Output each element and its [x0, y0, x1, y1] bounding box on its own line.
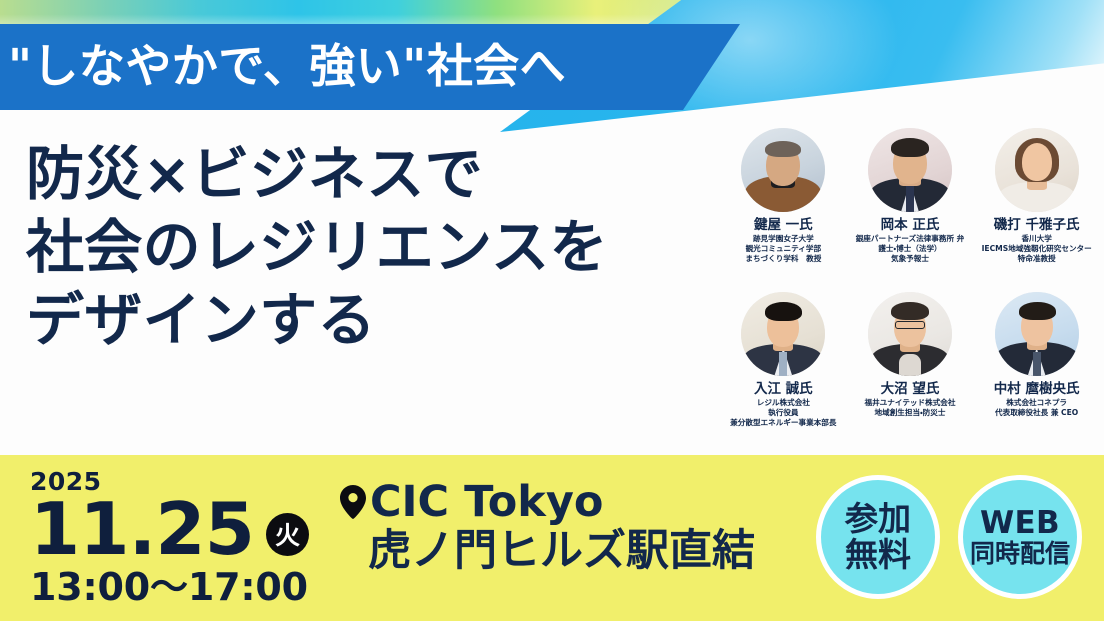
venue-access: 虎ノ門ヒルズ駅直結	[340, 527, 755, 575]
web-streaming-badge: WEB 同時配信	[958, 475, 1082, 599]
speaker-affiliation: 銀座パートナーズ法律事務所 弁 護士・博士（法学） 気象予報士	[856, 234, 965, 264]
badge-group: 参加 無料 WEB 同時配信	[816, 475, 1082, 599]
affiliation-line: 福井ユナイテッド株式会社	[865, 398, 956, 408]
web-streaming-line-2: 同時配信	[970, 540, 1070, 567]
affiliation-line: 観光コミュニティ学部	[745, 244, 821, 254]
speaker-name: 磯打 千雅子氏	[994, 218, 1080, 232]
portrait-onuma	[868, 292, 952, 376]
speaker-affiliation: 株式会社コネプラ 代表取締役社長 兼 CEO	[995, 398, 1078, 418]
event-venue-block: CIC Tokyo 虎ノ門ヒルズ駅直結	[340, 479, 755, 576]
speaker-card: 鍵屋 一氏 跡見学園女子大学 観光コミュニティ学部 まちづくり学科 教授	[722, 128, 845, 286]
speaker-affiliation: 香川大学 IECMS地域強靱化研究センター 特命准教授	[982, 234, 1092, 264]
affiliation-line: 跡見学園女子大学	[745, 234, 821, 244]
event-date-row: 11.25 火	[30, 496, 309, 562]
free-admission-line-2: 無料	[845, 537, 911, 573]
event-date-block: 2025 11.25 火 13:00〜17:00	[30, 469, 309, 606]
location-pin-icon	[340, 485, 366, 519]
affiliation-line: 銀座パートナーズ法律事務所 弁	[856, 234, 965, 244]
headline-line-2: 社会のレジリエンスを	[26, 211, 726, 284]
event-time: 13:00〜17:00	[30, 568, 309, 606]
speaker-affiliation: レジル株式会社 執行役員 兼分散型エネルギー事業本部長	[730, 398, 836, 428]
headline-line-1: 防災×ビジネスで	[26, 138, 726, 211]
affiliation-line: 代表取締役社長 兼 CEO	[995, 408, 1078, 418]
affiliation-line: 株式会社コネプラ	[995, 398, 1078, 408]
speaker-grid: 鍵屋 一氏 跡見学園女子大学 観光コミュニティ学部 まちづくり学科 教授 岡本 …	[722, 128, 1098, 450]
portrait-okamoto	[868, 128, 952, 212]
web-streaming-line-1: WEB	[980, 507, 1060, 540]
speaker-card: 磯打 千雅子氏 香川大学 IECMS地域強靱化研究センター 特命准教授	[975, 128, 1098, 286]
event-poster: "しなやかで、強い"社会へ 防災×ビジネスで 社会のレジリエンスを デザインする…	[0, 0, 1104, 621]
page-title: 防災×ビジネスで 社会のレジリエンスを デザインする	[26, 138, 726, 357]
affiliation-line: IECMS地域強靱化研究センター	[982, 244, 1092, 254]
venue-name-row: CIC Tokyo	[340, 479, 755, 525]
speaker-name: 大沼 望氏	[881, 382, 940, 396]
affiliation-line: 香川大学	[982, 234, 1092, 244]
affiliation-line: 気象予報士	[856, 254, 965, 264]
speaker-name: 中村 麿樹央氏	[994, 382, 1080, 396]
speaker-card: 入江 誠氏 レジル株式会社 執行役員 兼分散型エネルギー事業本部長	[722, 292, 845, 450]
event-day-of-week-badge: 火	[266, 513, 309, 556]
affiliation-line: 特命准教授	[982, 254, 1092, 264]
free-admission-badge: 参加 無料	[816, 475, 940, 599]
speaker-affiliation: 福井ユナイテッド株式会社 地域創生担当・防災士	[865, 398, 956, 418]
affiliation-line: 護士・博士（法学）	[856, 244, 965, 254]
affiliation-line: 兼分散型エネルギー事業本部長	[730, 418, 836, 428]
affiliation-line: まちづくり学科 教授	[745, 254, 821, 264]
speaker-name: 鍵屋 一氏	[754, 218, 813, 232]
portrait-kagiya	[741, 128, 825, 212]
affiliation-line: レジル株式会社	[730, 398, 836, 408]
event-info-bar: 2025 11.25 火 13:00〜17:00 CIC Tokyo 虎ノ門ヒル…	[0, 455, 1104, 621]
speaker-affiliation: 跡見学園女子大学 観光コミュニティ学部 まちづくり学科 教授	[745, 234, 821, 264]
free-admission-line-1: 参加	[845, 501, 911, 537]
affiliation-line: 執行役員	[730, 408, 836, 418]
portrait-nakamura	[995, 292, 1079, 376]
speaker-name: 入江 誠氏	[754, 382, 813, 396]
speaker-name: 岡本 正氏	[881, 218, 940, 232]
catchcopy-text: "しなやかで、強い"社会へ	[0, 43, 566, 89]
speaker-card: 岡本 正氏 銀座パートナーズ法律事務所 弁 護士・博士（法学） 気象予報士	[849, 128, 972, 286]
speaker-card: 中村 麿樹央氏 株式会社コネプラ 代表取締役社長 兼 CEO	[975, 292, 1098, 450]
event-date: 11.25	[30, 496, 254, 562]
portrait-irie	[741, 292, 825, 376]
venue-name: CIC Tokyo	[370, 479, 603, 525]
speaker-card: 大沼 望氏 福井ユナイテッド株式会社 地域創生担当・防災士	[849, 292, 972, 450]
catchcopy-banner: "しなやかで、強い"社会へ	[0, 24, 740, 110]
portrait-isouchi	[995, 128, 1079, 212]
headline-line-3: デザインする	[26, 284, 726, 357]
affiliation-line: 地域創生担当・防災士	[865, 408, 956, 418]
